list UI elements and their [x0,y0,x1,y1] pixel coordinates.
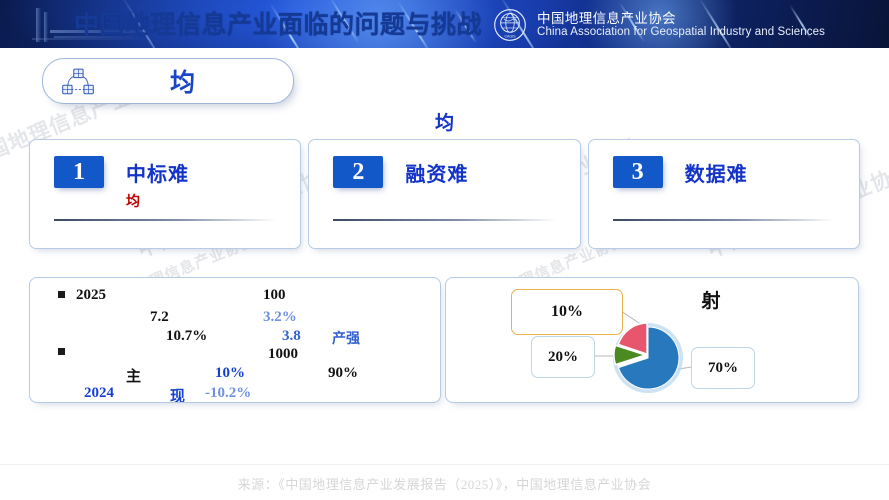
stat-value: 3.2% [263,309,297,326]
slide-root: 中国地理信息产业面临的问题与挑战 CAGIS 中国地理信息产业协会 China … [0,0,889,500]
slide-header: 中国地理信息产业面临的问题与挑战 CAGIS 中国地理信息产业协会 China … [0,0,889,48]
stat-value: 10.7% [166,328,207,345]
card-number-badge: 2 [333,156,383,188]
issue-card-2[interactable]: 2 融资难 [308,139,580,249]
card-header-row: 2 融资难 [309,140,579,188]
pie-chart-wrap: 射 10% 20% 70% [446,278,858,402]
card-subtitle: 均 [126,191,300,211]
brand-block: CAGIS 中国地理信息产业协会 China Association for G… [493,6,825,44]
stat-value: 90% [328,365,358,382]
section-tab-label: 均 [95,63,271,99]
pie-callout-10: 10% [511,289,623,335]
stat-value: 现 [170,385,185,403]
pie-callout-20: 20% [531,336,595,378]
section-tab-pill[interactable]: 均 [42,58,294,104]
pie-callout-70: 70% [691,347,755,389]
stat-value: 2024 [84,385,114,402]
list-bullet [58,348,65,355]
brand-name-en: China Association for Geospatial Industr… [537,26,825,39]
card-header-row: 3 数据难 [589,140,859,188]
card-divider [613,219,835,221]
statistics-panel: 20251007.23.2%10.7%3.8产强1000主10%90%2024现… [29,277,441,403]
source-footer: 来源：《中国地理信息产业发展报告（2025）》，中国地理信息产业协会 [0,474,889,493]
stat-value: 1000 [268,346,298,363]
stat-value: 3.8 [282,328,301,345]
stat-value: 100 [263,287,286,304]
card-header-row: 1 中标难 [30,140,300,188]
card-number-badge: 3 [613,156,663,188]
center-heading: 均 [0,108,889,135]
list-bullet [58,291,65,298]
card-title: 中标难 [126,158,189,187]
globe-logo-icon: CAGIS [493,8,527,42]
footer-divider [0,464,889,465]
card-title: 数据难 [685,158,748,187]
card-number-badge: 1 [54,156,104,188]
issue-card-1[interactable]: 1 中标难 均 [29,139,301,249]
pie-chart-panel: 射 10% 20% 70% [445,277,859,403]
stat-value: 10% [215,365,245,382]
card-title: 融资难 [405,158,468,187]
card-divider [54,219,276,221]
stat-value: 主 [126,365,141,386]
card-divider [333,219,555,221]
issue-card-3[interactable]: 3 数据难 [588,139,860,249]
stat-value: 2025 [76,287,106,304]
network-nodes-icon [61,66,95,96]
svg-text:CAGIS: CAGIS [505,34,517,38]
brand-name-cn: 中国地理信息产业协会 [537,11,825,26]
issue-cards: 1 中标难 均 2 融资难 3 数据难 [29,139,860,249]
stat-value: -10.2% [205,385,251,402]
stat-value: 产强 [332,328,360,348]
stat-value: 7.2 [150,309,169,326]
page-title: 中国地理信息产业面临的问题与挑战 [74,8,454,42]
